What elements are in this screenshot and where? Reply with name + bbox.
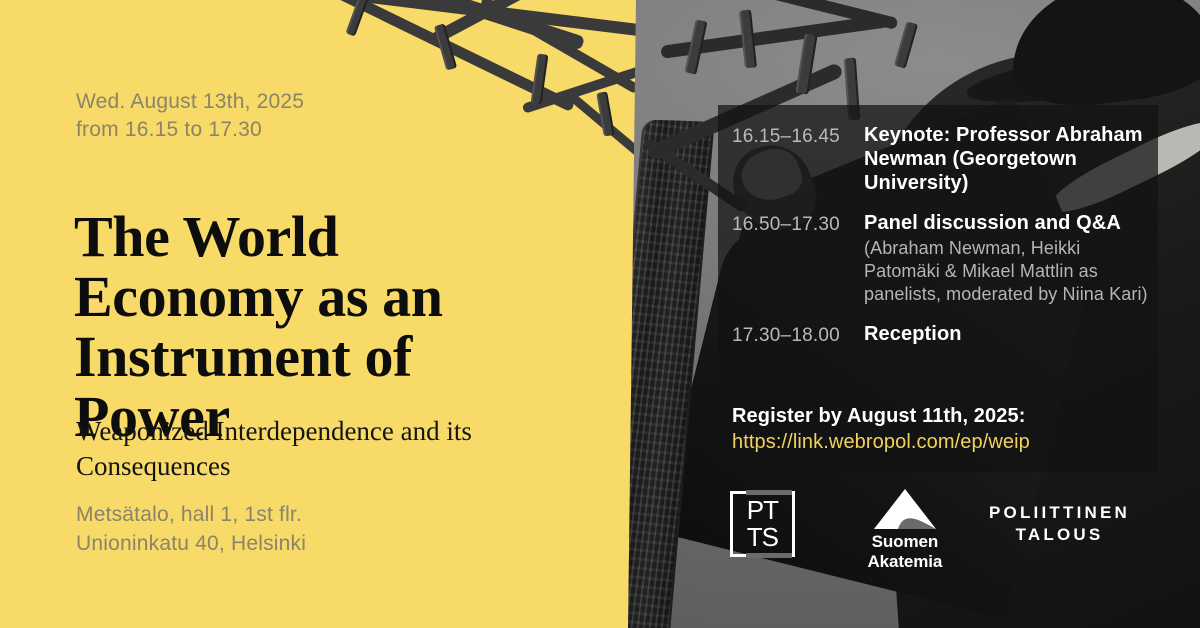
- schedule-body: Reception: [864, 322, 1152, 346]
- triangle-swoosh-icon: [874, 489, 936, 529]
- event-date-line-1: Wed. August 13th, 2025: [76, 88, 304, 116]
- schedule-row: 16.50–17.30 Panel discussion and Q&A (Ab…: [732, 211, 1152, 306]
- event-date-block: Wed. August 13th, 2025 from 16.15 to 17.…: [76, 88, 304, 144]
- schedule-body: Keynote: Professor Abraham Newman (Georg…: [864, 123, 1152, 195]
- akatemia-logo-name: Suomen Akatemia: [847, 532, 963, 572]
- schedule-time: 16.15–16.45: [732, 123, 864, 150]
- page-title: The World Economy as an Instrument of Po…: [74, 207, 544, 447]
- clothes-peg: [596, 91, 614, 136]
- event-poster: Wed. August 13th, 2025 from 16.15 to 17.…: [0, 0, 1200, 628]
- schedule-body: Panel discussion and Q&A (Abraham Newman…: [864, 211, 1152, 306]
- ptts-logo-line-1: PT: [730, 497, 795, 523]
- ptts-logo-line-2: TS: [730, 524, 795, 550]
- registration-label: Register by August 11th, 2025:: [732, 403, 1030, 429]
- venue-block: Metsätalo, hall 1, 1st flr. Unioninkatu …: [76, 500, 306, 558]
- venue-line-2: Unioninkatu 40, Helsinki: [76, 529, 306, 558]
- schedule-row: 16.15–16.45 Keynote: Professor Abraham N…: [732, 123, 1152, 195]
- schedule-row: 17.30–18.00 Reception: [732, 322, 1152, 349]
- left-content: Wed. August 13th, 2025 from 16.15 to 17.…: [76, 0, 596, 628]
- venue-line-1: Metsätalo, hall 1, 1st flr.: [76, 500, 306, 529]
- ptts-logo-frame-gap-bottom: [746, 553, 792, 558]
- page-subtitle: Weaponized Interdependence and its Conse…: [76, 414, 506, 484]
- schedule-list: 16.15–16.45 Keynote: Professor Abraham N…: [732, 123, 1152, 365]
- event-time-line: from 16.15 to 17.30: [76, 116, 304, 144]
- poliittinen-talous-logo: POLIITTINEN TALOUS: [989, 502, 1130, 546]
- schedule-title: Panel discussion and Q&A: [864, 211, 1152, 235]
- akatemia-logo: Suomen Akatemia: [847, 489, 963, 559]
- schedule-title: Keynote: Professor Abraham Newman (Georg…: [864, 123, 1152, 195]
- schedule-time: 17.30–18.00: [732, 322, 864, 349]
- schedule-panel: 16.15–16.45 Keynote: Professor Abraham N…: [718, 105, 1158, 472]
- ptts-logo: PT TS: [730, 491, 795, 557]
- schedule-time: 16.50–17.30: [732, 211, 864, 238]
- logo-row: PT TS Suomen Akatemia POLIITTINEN TALOUS: [730, 484, 1130, 564]
- schedule-title: Reception: [864, 322, 1152, 346]
- schedule-detail: (Abraham Newman, Heikki Patomäki & Mikae…: [864, 237, 1152, 306]
- poliittinen-talous-line-2: TALOUS: [989, 524, 1130, 546]
- registration-link[interactable]: https://link.webropol.com/ep/weip: [732, 431, 1030, 453]
- poliittinen-talous-line-1: POLIITTINEN: [989, 502, 1130, 524]
- registration-block: Register by August 11th, 2025: https://l…: [732, 403, 1030, 455]
